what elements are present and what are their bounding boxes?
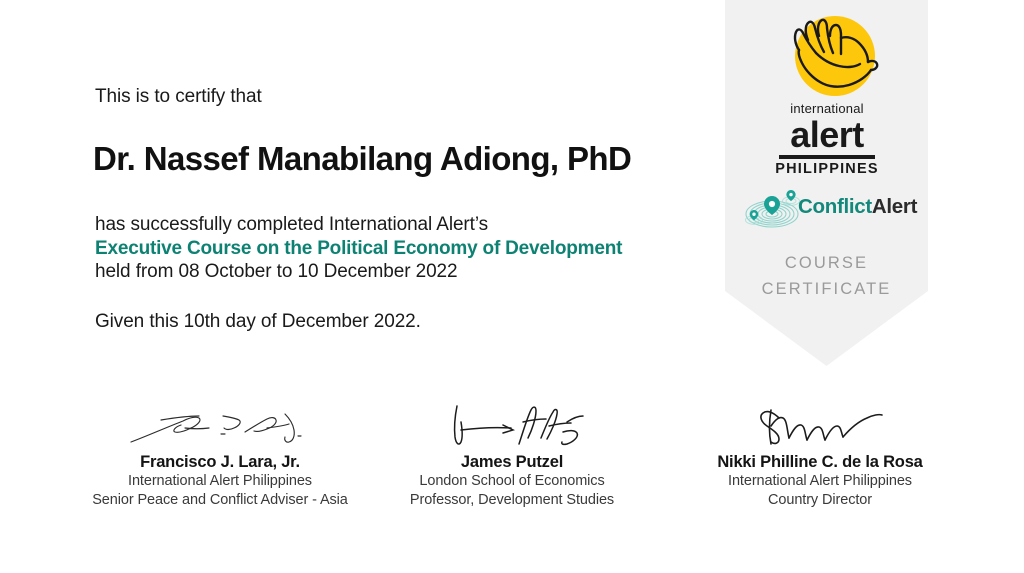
- wordmark-alert-suffix: Alert: [872, 195, 917, 218]
- handwritten-signature-icon: [745, 404, 895, 450]
- handwritten-signature-icon: [437, 404, 587, 450]
- signatory-role: Senior Peace and Conflict Adviser - Asia: [60, 491, 380, 510]
- conflict-alert-logo: ConflictAlert: [742, 188, 912, 232]
- handwritten-signature-icon: [125, 406, 315, 450]
- signatory-role: Country Director: [686, 491, 954, 510]
- signatory-organization: London School of Economics: [392, 472, 632, 491]
- signatory-organization: International Alert Philippines: [60, 472, 380, 491]
- signatory-name: Nikki Philline C. de la Rosa: [686, 452, 954, 472]
- course-title: Executive Course on the Political Econom…: [95, 237, 622, 261]
- recipient-name: Dr. Nassef Manabilang Adiong, PhD: [93, 140, 631, 178]
- signature-block: Nikki Philline C. de la Rosa Internation…: [686, 404, 954, 510]
- signature-block: Francisco J. Lara, Jr. International Ale…: [60, 404, 380, 510]
- signature-mark: [60, 404, 380, 450]
- wordmark-philippines: PHILIPPINES: [757, 162, 897, 177]
- certificate-page: international alert PHILIPPINES: [0, 0, 1024, 573]
- signatory-name: Francisco J. Lara, Jr.: [60, 452, 380, 472]
- course-certificate-label: COURSE CERTIFICATE: [725, 250, 928, 302]
- given-date-line: Given this 10th day of December 2022.: [95, 311, 421, 333]
- wordmark-conflict: Conflict: [798, 195, 872, 218]
- signature-row: Francisco J. Lara, Jr. International Ale…: [0, 404, 1024, 529]
- dove-hand-icon: [789, 14, 881, 100]
- map-pins-ripple-icon: [742, 188, 804, 232]
- signatory-name: James Putzel: [392, 452, 632, 472]
- signature-mark: [392, 404, 632, 450]
- signature-block: James Putzel London School of Economics …: [392, 404, 632, 510]
- alert-wordmark: international alert PHILIPPINES: [757, 102, 897, 177]
- signature-mark: [686, 404, 954, 450]
- wordmark-alert: alert: [757, 117, 897, 153]
- course-certificate-line1: COURSE: [725, 250, 928, 276]
- completion-block: has successfully completed International…: [95, 213, 622, 284]
- signatory-organization: International Alert Philippines: [686, 472, 954, 491]
- course-certificate-line2: CERTIFICATE: [725, 276, 928, 302]
- completion-line: has successfully completed International…: [95, 213, 622, 237]
- wordmark-divider: [779, 155, 875, 159]
- conflict-alert-wordmark: ConflictAlert: [798, 195, 917, 219]
- held-dates-line: held from 08 October to 10 December 2022: [95, 260, 622, 284]
- signatory-role: Professor, Development Studies: [392, 491, 632, 510]
- intro-line: This is to certify that: [95, 86, 262, 108]
- dove-mark: [757, 14, 897, 100]
- international-alert-logo: international alert PHILIPPINES: [757, 14, 897, 162]
